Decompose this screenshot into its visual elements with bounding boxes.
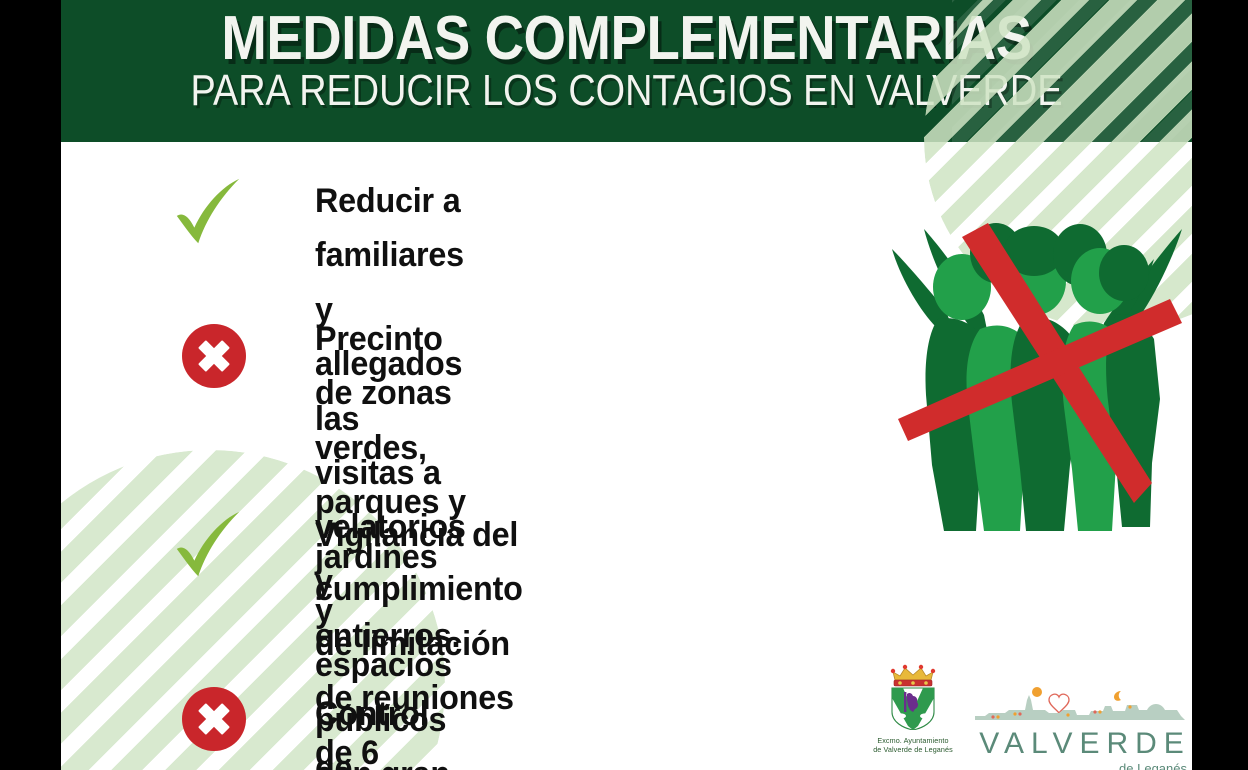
list-item-label: Control de aforos. [315, 687, 428, 770]
valverde-logo-word: VALVERDE [971, 729, 1192, 759]
title-block: MEDIDAS COMPLEMENTARIAS PARA REDUCIR LOS… [61, 0, 1192, 142]
coat-of-arms-valverde-de-leganes: Excmo. Ayuntamiento de Valverde de Legan… [868, 664, 958, 754]
valverde-logo-subtitle: de Leganés [971, 762, 1192, 770]
valverde-de-leganes-town-logo: VALVERDE de Leganés [971, 686, 1192, 770]
logos-row: Excmo. Ayuntamiento de Valverde de Legan… [806, 664, 1192, 770]
town-skyline-icon [971, 686, 1189, 726]
poster-title: MEDIDAS COMPLEMENTARIAS [129, 6, 1124, 71]
crowd-of-people-crossed-out-illustration [884, 215, 1192, 535]
x-circle-icon [175, 687, 253, 751]
poster-canvas: MEDIDAS COMPLEMENTARIAS PARA REDUCIR LOS… [61, 0, 1192, 770]
check-icon [169, 172, 247, 252]
coat-of-arms-caption: Excmo. Ayuntamiento de Valverde de Legan… [868, 736, 958, 754]
poster-subtitle: PARA REDUCIR LOS CONTAGIOS EN VALVERDE [140, 68, 1113, 114]
poster-header: MEDIDAS COMPLEMENTARIAS PARA REDUCIR LOS… [61, 0, 1192, 142]
check-icon [169, 505, 247, 585]
x-circle-icon [175, 324, 253, 388]
